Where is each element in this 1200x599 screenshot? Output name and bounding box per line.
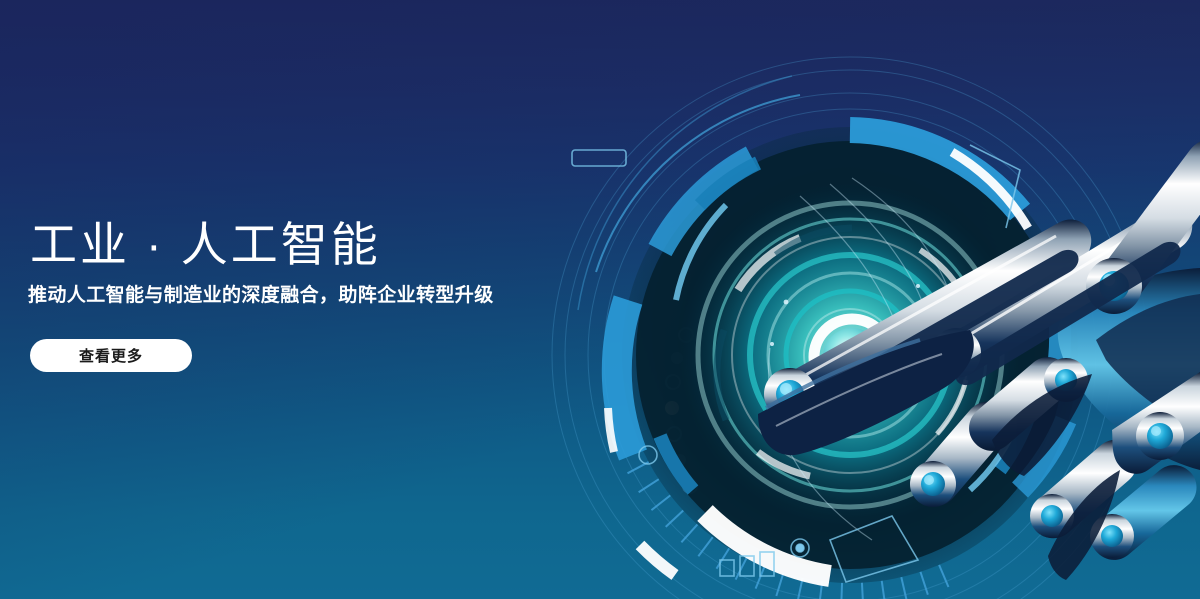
hud-outer-arcs — [660, 130, 1020, 250]
finger-ring — [1086, 139, 1200, 314]
hero-artwork — [500, 0, 1200, 599]
robotic-hand-icon — [758, 139, 1200, 580]
finger-lower-3 — [969, 357, 1088, 451]
finger-underside-members — [789, 242, 1180, 423]
hud-glow — [678, 183, 1022, 527]
hero-content: 工业 · 人工智能 推动人工智能与制造业的深度融合，助阵企业转型升级 查看更多 — [30, 218, 590, 372]
tick-arc-icon — [578, 76, 948, 599]
hud-rings — [698, 203, 1002, 507]
hud-swirls — [768, 178, 960, 540]
hud-core — [823, 328, 881, 386]
finger-index — [764, 219, 1091, 420]
hero-banner: 工业 · 人工智能 推动人工智能与制造业的深度融合，助阵企业转型升级 查看更多 — [0, 0, 1200, 599]
finger-right-lower — [1090, 465, 1197, 560]
dotted-arc-icon — [665, 328, 697, 493]
hud-glyphs — [572, 145, 1020, 582]
hud-white-arcs — [608, 152, 1028, 576]
hud-outer-guides — [552, 57, 1148, 599]
finger-pinky-lower — [910, 402, 1009, 507]
finger-lower-2 — [1030, 440, 1137, 539]
finger-thumb-right — [1112, 372, 1200, 474]
hud-mid-segments — [660, 163, 1028, 490]
hud-dark-disk — [622, 127, 1078, 583]
hud-inner-dashes — [738, 238, 970, 476]
hero-subtitle: 推动人工智能与制造业的深度融合，助阵企业转型升级 — [28, 283, 590, 310]
hud-dots — [770, 284, 938, 432]
finger-middle — [931, 205, 1192, 378]
page-title: 工业 · 人工智能 — [30, 218, 590, 273]
view-more-button[interactable]: 查看更多 — [30, 339, 192, 372]
hud-core-ring — [814, 319, 890, 395]
thumb-member — [758, 330, 974, 455]
